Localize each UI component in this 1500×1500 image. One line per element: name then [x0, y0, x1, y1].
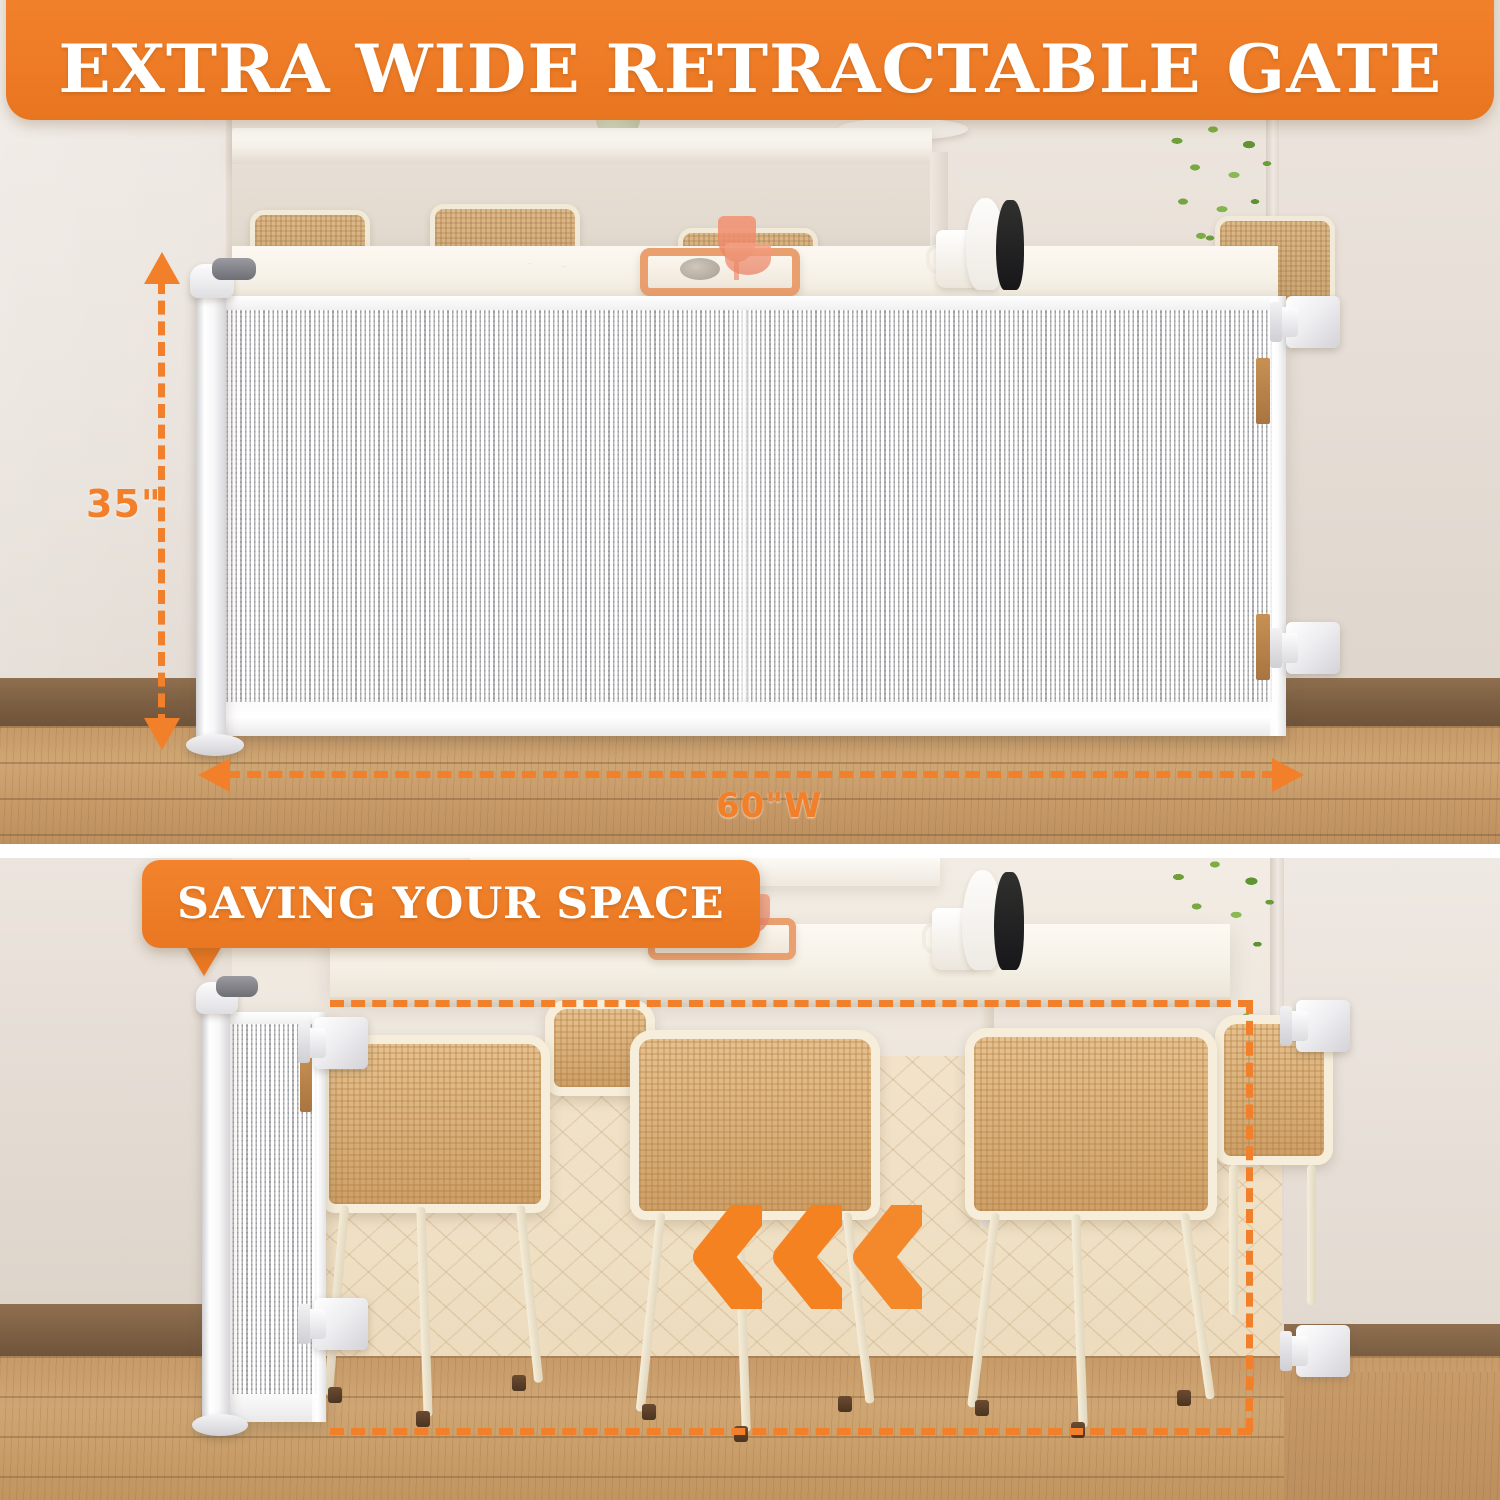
space-outline-right	[1246, 1000, 1253, 1432]
dimension-line-horizontal	[226, 771, 1276, 778]
gate-pull-tab	[1256, 614, 1270, 680]
panel-divider	[0, 844, 1500, 858]
gate-roller-housing	[202, 998, 230, 1428]
wood-floor-right	[1284, 1372, 1500, 1500]
saving-space-bubble: SAVING YOUR SPACE	[142, 860, 760, 948]
retractable-gate-retracted	[214, 1012, 326, 1422]
chevron-left-icon	[770, 1205, 842, 1309]
roller-tension-knob	[212, 258, 256, 280]
rattan-chair	[965, 1028, 1217, 1220]
chair-foot	[838, 1396, 852, 1412]
header-banner: EXTRA WIDE RETRACTABLE GATE	[6, 0, 1494, 120]
gate-leading-edge	[312, 1012, 326, 1422]
gate-fold-seam	[740, 296, 749, 736]
dimension-arrow-down-icon	[144, 718, 180, 750]
face-sculpture-black	[994, 872, 1024, 970]
chevron-left-icon	[850, 1205, 922, 1309]
wall-bracket	[314, 1298, 368, 1350]
roller-tension-knob	[216, 976, 258, 997]
chair-foot	[416, 1411, 430, 1427]
gate-top-hem	[208, 296, 1286, 310]
width-dimension-label: 60"W	[716, 786, 823, 826]
product-infographic: 35" 60"W EXTRA WIDE RETRACTABLE GATE	[0, 0, 1500, 1500]
extended-gate-panel: 35" 60"W EXTRA WIDE RETRACTABLE GATE	[0, 0, 1500, 848]
chair-seat-back	[630, 1030, 880, 1220]
bubble-title: SAVING YOUR SPACE	[177, 879, 724, 929]
height-dimension-label: 35"	[86, 482, 162, 526]
chair-foot	[975, 1400, 989, 1416]
space-outline-top	[330, 1000, 1252, 1007]
peach-glass-lower	[725, 243, 771, 275]
bubble-tail-icon	[186, 946, 222, 976]
tray-food	[680, 258, 720, 280]
gate-bottom-hem	[208, 702, 1286, 736]
serving-tray	[640, 248, 800, 296]
chair-foot	[1177, 1390, 1191, 1406]
gate-roller-housing	[196, 280, 226, 748]
wall-bracket	[1296, 1325, 1350, 1377]
table-decor-marks	[470, 258, 600, 272]
chair-leg	[1229, 1165, 1238, 1315]
banner-title: EXTRA WIDE RETRACTABLE GATE	[58, 30, 1442, 120]
wall-bracket	[314, 1017, 368, 1069]
chair-foot	[642, 1404, 656, 1420]
chevron-left-icon	[690, 1205, 762, 1309]
chair-leg	[1307, 1165, 1316, 1305]
chair-seat-back	[965, 1028, 1217, 1220]
roller-base-foot	[186, 734, 244, 756]
roller-base-foot	[192, 1414, 248, 1436]
gate-pull-tab	[1256, 358, 1270, 424]
gate-leading-edge	[1270, 296, 1286, 736]
dimension-arrow-right-icon	[1272, 758, 1304, 792]
chair-foot	[512, 1375, 526, 1391]
retractable-gate-extended	[208, 296, 1286, 736]
chair-foot	[328, 1387, 342, 1403]
face-sculpture-black	[996, 200, 1024, 290]
wall-bracket	[1286, 296, 1340, 348]
rattan-chair	[630, 1030, 880, 1220]
wall-bracket	[1286, 622, 1340, 674]
wall-bracket	[1296, 1000, 1350, 1052]
wall-shelf	[232, 128, 932, 164]
space-outline-bottom	[330, 1428, 1252, 1435]
baseboard-left	[0, 1304, 232, 1360]
